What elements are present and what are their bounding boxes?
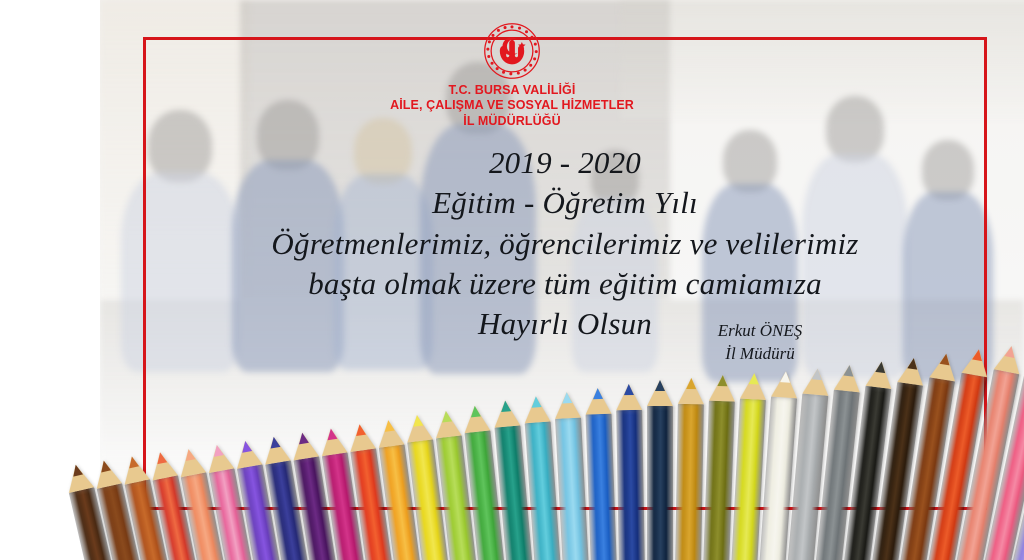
signature-block: Erkut ÖNEŞ İl Müdürü (620, 320, 900, 366)
organisation-name: T.C. BURSA VALİLİĞİ AİLE, ÇALIŞMA VE SOS… (0, 83, 1024, 129)
organisation-header: T.C. BURSA VALİLİĞİ AİLE, ÇALIŞMA VE SOS… (0, 22, 1024, 129)
ministry-seal-icon (483, 22, 541, 80)
signature-title: İl Müdürü (620, 343, 900, 366)
poster-canvas: T.C. BURSA VALİLİĞİ AİLE, ÇALIŞMA VE SOS… (0, 0, 1024, 560)
org-line-3: İL MÜDÜRLÜĞÜ (0, 114, 1024, 129)
message-line-1: 2019 - 2020 (146, 143, 984, 183)
main-message: 2019 - 2020 Eğitim - Öğretim Yılı Öğretm… (146, 143, 984, 344)
message-line-3: Öğretmenlerimiz, öğrencilerimiz ve velil… (146, 224, 984, 264)
signature-name: Erkut ÖNEŞ (620, 320, 900, 343)
org-line-2: AİLE, ÇALIŞMA VE SOSYAL HİZMETLER (0, 98, 1024, 113)
message-line-4: başta olmak üzere tüm eğitim camiamıza (146, 264, 984, 304)
message-line-2: Eğitim - Öğretim Yılı (146, 183, 984, 223)
org-line-1: T.C. BURSA VALİLİĞİ (0, 83, 1024, 98)
